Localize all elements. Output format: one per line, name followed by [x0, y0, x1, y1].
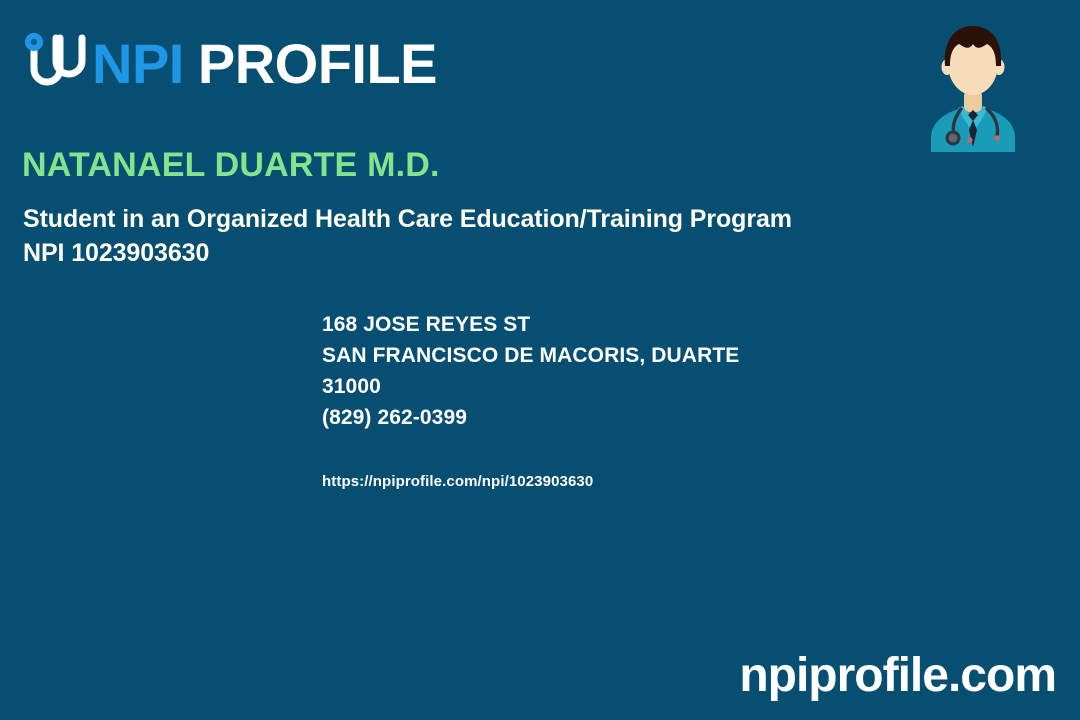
address-street: 168 JOSE REYES ST: [322, 310, 739, 341]
address-city-state: SAN FRANCISCO DE MACORIS, DUARTE: [322, 341, 739, 372]
stethoscope-icon: [20, 28, 88, 100]
brand-header: NPI PROFILE: [20, 26, 437, 102]
provider-meta: Student in an Organized Health Care Educ…: [23, 203, 1023, 271]
profile-url[interactable]: https://npiprofile.com/npi/1023903630: [322, 473, 593, 490]
brand-wordmark: NPI PROFILE: [92, 36, 437, 92]
npi-profile-card: NPI PROFILE: [0, 0, 1080, 720]
address-phone: (829) 262-0399: [322, 403, 739, 434]
site-watermark: npiprofile.com: [739, 652, 1056, 700]
provider-npi: NPI 1023903630: [23, 237, 1023, 271]
provider-name: NATANAEL DUARTE M.D.: [22, 148, 440, 184]
brand-word-npi: NPI: [92, 36, 184, 92]
brand-word-profile: PROFILE: [198, 36, 437, 92]
address-block: 168 JOSE REYES ST SAN FRANCISCO DE MACOR…: [322, 310, 739, 433]
doctor-avatar-icon: [925, 14, 1021, 152]
provider-taxonomy: Student in an Organized Health Care Educ…: [23, 203, 1023, 237]
address-postal-code: 31000: [322, 372, 739, 403]
